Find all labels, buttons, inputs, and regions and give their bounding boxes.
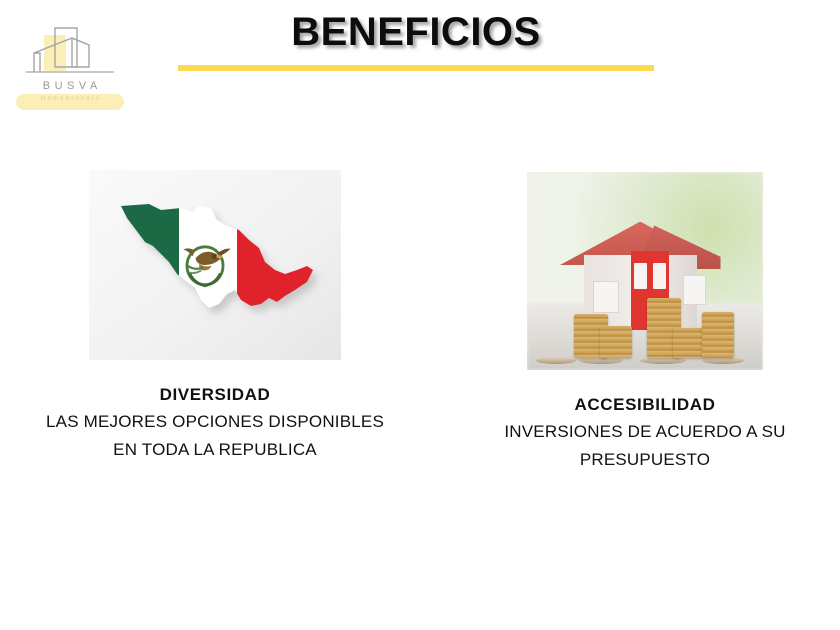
coin-stack xyxy=(600,326,632,358)
benefit-title: ACCESIBILIDAD xyxy=(460,392,830,418)
mexico-map-flag-image xyxy=(89,170,341,360)
page-title: BENEFICIOS xyxy=(178,12,654,52)
benefit-body-line-2: PRESUPUESTO xyxy=(460,446,830,473)
benefit-title: DIVERSIDAD xyxy=(20,382,410,408)
coin-stack xyxy=(702,312,734,358)
door-window-left-icon xyxy=(634,263,647,289)
house-window-left-icon xyxy=(593,281,619,313)
coin-flat xyxy=(702,357,744,364)
benefit-card-diversidad: DIVERSIDAD LAS MEJORES OPCIONES DISPONIB… xyxy=(20,170,410,463)
benefit-caption-diversidad: DIVERSIDAD LAS MEJORES OPCIONES DISPONIB… xyxy=(20,382,410,463)
benefit-card-accesibilidad: ACCESIBILIDAD INVERSIONES DE ACUERDO A S… xyxy=(460,170,830,473)
title-underline-rule xyxy=(178,65,654,71)
logo-tagline: Homebrokers xyxy=(16,96,124,102)
house-window-right-icon xyxy=(683,275,706,305)
benefit-caption-accesibilidad: ACCESIBILIDAD INVERSIONES DE ACUERDO A S… xyxy=(460,392,830,473)
benefit-body-line-1: LAS MEJORES OPCIONES DISPONIBLES xyxy=(20,408,410,435)
coin-stack xyxy=(673,328,705,358)
brand-logo: BUSVA Homebrokers xyxy=(14,22,126,112)
benefit-body-line-2: EN TODA LA REPUBLICA xyxy=(20,436,410,463)
building-outline-icon xyxy=(14,22,126,80)
benefit-body-line-1: INVERSIONES DE ACUERDO A SU xyxy=(460,418,830,445)
logo-wordmark: BUSVA xyxy=(14,80,126,92)
house-coins-image xyxy=(527,172,763,370)
coin-flat xyxy=(579,357,623,364)
door-window-right-icon xyxy=(653,263,666,289)
